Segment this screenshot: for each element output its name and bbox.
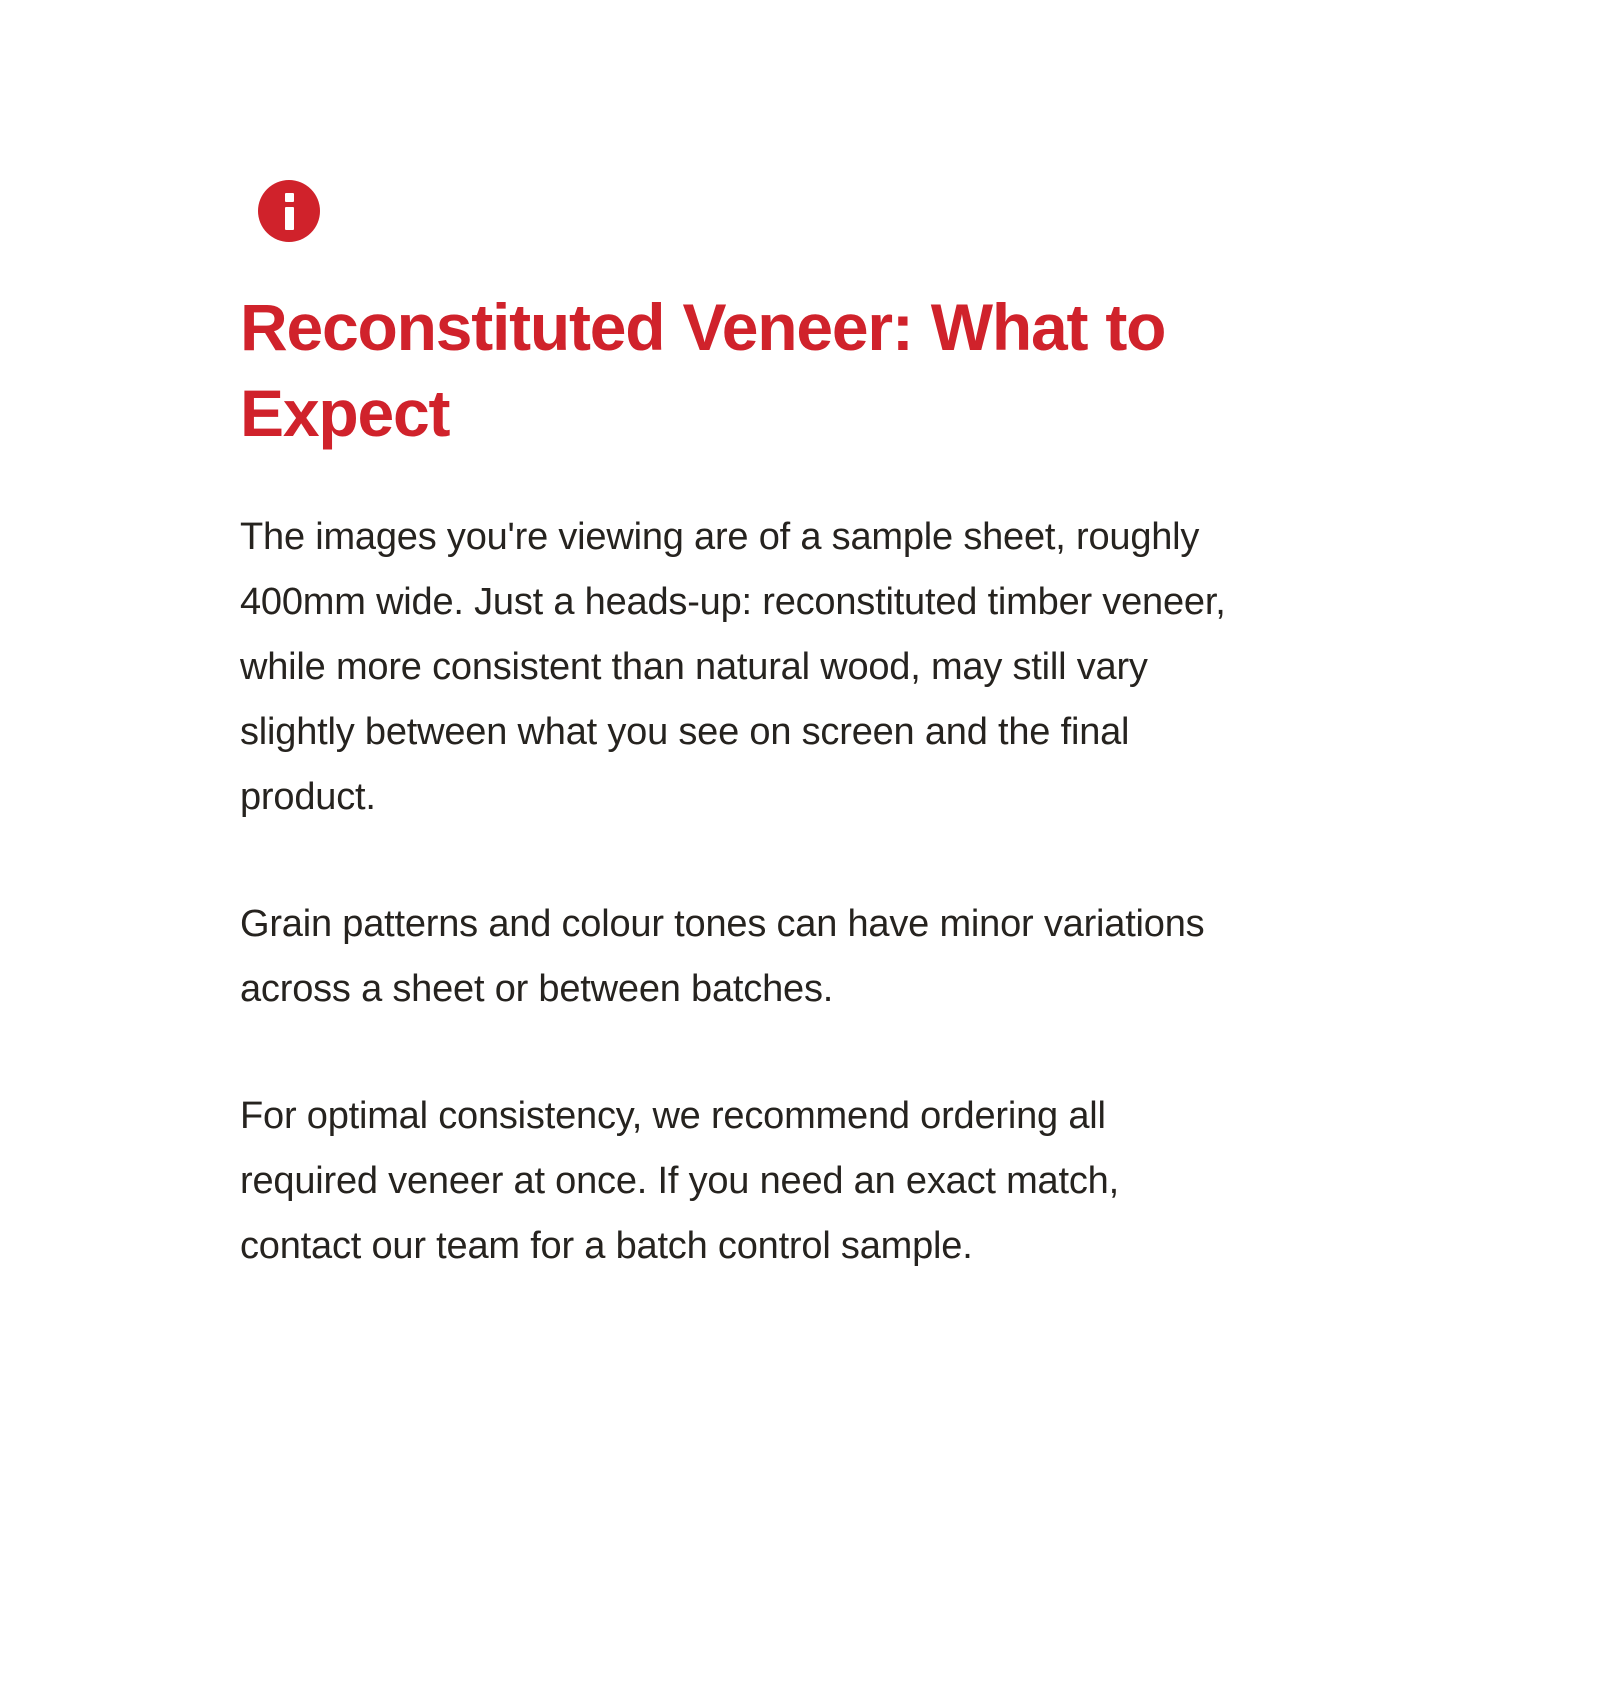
- paragraph-recommendation: For optimal consistency, we recommend or…: [240, 1084, 1250, 1279]
- page-title: Reconstituted Veneer: What to Expect: [240, 284, 1240, 456]
- paragraph-variation: Grain patterns and colour tones can have…: [240, 892, 1250, 1022]
- info-icon-container: [258, 180, 320, 242]
- info-icon: [258, 180, 320, 242]
- info-icon-stem: [285, 207, 294, 230]
- paragraph-intro: The images you're viewing are of a sampl…: [240, 505, 1250, 830]
- info-icon-dot: [285, 193, 294, 202]
- panel-body: The images you're viewing are of a sampl…: [240, 505, 1250, 1279]
